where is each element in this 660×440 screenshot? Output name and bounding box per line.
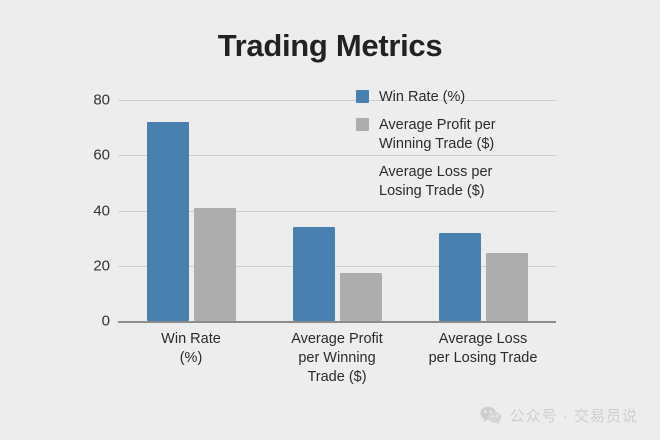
y-axis-tick-label: 40 [68, 202, 110, 219]
legend-item[interactable]: Average Profit perWinning Trade ($) [356, 116, 556, 154]
legend-label-line: Win Rate (%) [379, 88, 465, 107]
watermark: 公众号 · 交易员说 [480, 405, 638, 426]
bar [340, 273, 382, 321]
y-axis-tick-label: 0 [68, 313, 110, 330]
x-axis-label-line: Average Loss [410, 330, 556, 349]
legend-swatch [356, 90, 369, 103]
legend-swatch [356, 118, 369, 131]
legend-label-line: Average Profit per [379, 116, 496, 135]
legend-item[interactable]: Win Rate (%) [356, 88, 556, 107]
y-axis-tick-label: 80 [68, 92, 110, 109]
x-axis-label-line: (%) [118, 349, 264, 368]
legend-label: Win Rate (%) [379, 88, 465, 107]
bar [293, 227, 335, 321]
y-axis-tick-label: 60 [68, 147, 110, 164]
chart-legend: Win Rate (%)Average Profit perWinning Tr… [356, 88, 556, 210]
x-axis-category-label: Average Profitper WinningTrade ($) [264, 330, 410, 387]
bar [439, 233, 481, 321]
watermark-text: 公众号 · 交易员说 [510, 405, 638, 426]
x-axis-label-line: per Winning [264, 349, 410, 368]
x-axis-category-label: Win Rate(%) [118, 330, 264, 368]
legend-label-line: Losing Trade ($) [379, 182, 492, 201]
bar [486, 253, 528, 321]
legend-swatch [356, 165, 369, 178]
legend-label: Average Profit perWinning Trade ($) [379, 116, 496, 154]
x-axis-label-line: Average Profit [264, 330, 410, 349]
x-axis-category-label: Average Lossper Losing Trade [410, 330, 556, 368]
legend-label: Average Loss perLosing Trade ($) [379, 163, 492, 201]
legend-label-line: Average Loss per [379, 163, 492, 182]
wechat-icon [480, 406, 502, 425]
x-axis-label-line: Trade ($) [264, 368, 410, 387]
legend-item[interactable]: Average Loss perLosing Trade ($) [356, 163, 556, 201]
bar [194, 208, 236, 321]
y-axis: 020406080 [62, 0, 110, 440]
y-axis-tick-label: 20 [68, 257, 110, 274]
x-axis-label-line: Win Rate [118, 330, 264, 349]
bar [147, 122, 189, 321]
chart-canvas: Trading Metrics 020406080 Win Rate (%)Av… [0, 0, 660, 440]
x-axis-label-line: per Losing Trade [410, 349, 556, 368]
x-axis-line [118, 321, 556, 323]
legend-label-line: Winning Trade ($) [379, 135, 496, 154]
